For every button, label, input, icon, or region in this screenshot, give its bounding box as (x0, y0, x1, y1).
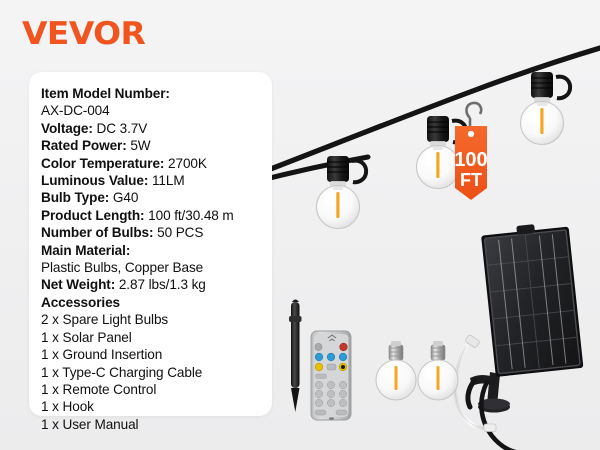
spec-label: Product Length: (41, 208, 144, 223)
spec-label: Bulb Type: (41, 190, 109, 205)
spec-label: Color Temperature: (41, 156, 164, 171)
spec-value: 50 PCS (153, 225, 203, 240)
spec-label: Luminous Value: (41, 173, 148, 188)
spec-row: Main Material: (41, 242, 272, 259)
globe-bulb (317, 186, 360, 229)
spec-value: DC 3.7V (93, 121, 147, 136)
spec-row: 1 x User Manual (41, 416, 272, 433)
specification-list: Item Model Number:AX-DC-004Voltage: DC 3… (29, 72, 272, 433)
spare-light-bulbs (376, 341, 458, 400)
spec-value: AX-DC-004 (41, 103, 110, 118)
spec-value: Plastic Bulbs, Copper Base (41, 260, 203, 275)
spec-value: 2.87 lbs/1.3 kg (115, 277, 206, 292)
spec-label: Rated Power: (41, 138, 127, 153)
product-infographic: 100 FT (0, 0, 600, 450)
brand-logo: VEVOR (22, 16, 145, 52)
spec-row: AX-DC-004 (41, 102, 272, 119)
tag-line1: 100 (454, 149, 487, 171)
spec-row: Voltage: DC 3.7V (41, 120, 272, 137)
spec-label: Main Material: (41, 243, 130, 258)
spec-row: Net Weight: 2.87 lbs/1.3 kg (41, 276, 272, 293)
bulb-socket (531, 72, 570, 104)
spec-value: 11LM (148, 173, 184, 188)
spec-label: Number of Bulbs: (41, 225, 153, 240)
spec-value: 2700K (164, 156, 207, 171)
spec-value: 2 x Spare Light Bulbs (41, 312, 168, 327)
bulb-socket (327, 156, 366, 188)
spec-label: Voltage: (41, 121, 93, 136)
spec-row: Number of Bulbs: 50 PCS (41, 224, 272, 241)
spec-row: 1 x Type-C Charging Cable (41, 364, 272, 381)
solar-panel (468, 221, 584, 450)
spec-row: 1 x Remote Control (41, 381, 272, 398)
spec-label: Accessories (41, 295, 120, 310)
spec-value: 1 x Type-C Charging Cable (41, 365, 202, 380)
spec-row: Rated Power: 5W (41, 137, 272, 154)
remote-control (311, 331, 351, 420)
spec-value: 1 x Ground Insertion (41, 347, 162, 362)
spec-row: Item Model Number: (41, 85, 272, 102)
globe-bulb (521, 102, 564, 145)
spec-value: 1 x Solar Panel (41, 330, 132, 345)
spec-value: 1 x User Manual (41, 417, 138, 432)
ground-insertion-stake (289, 300, 302, 413)
spec-row: Color Temperature: 2700K (41, 155, 272, 172)
spec-value: 100 ft/30.48 m (144, 208, 233, 223)
spec-value: 1 x Remote Control (41, 382, 156, 397)
spec-row: Product Length: 100 ft/30.48 m (41, 207, 272, 224)
spec-row: Plastic Bulbs, Copper Base (41, 259, 272, 276)
globe-bulb (417, 146, 460, 189)
specification-card: Item Model Number:AX-DC-004Voltage: DC 3… (29, 72, 272, 416)
spec-row: Accessories (41, 294, 272, 311)
spec-row: 1 x Ground Insertion (41, 346, 272, 363)
spec-label: Item Model Number: (41, 86, 170, 101)
spec-row: Luminous Value: 11LM (41, 172, 272, 189)
spec-row: Bulb Type: G40 (41, 189, 272, 206)
spec-label: Net Weight: (41, 277, 115, 292)
length-tag: 100 FT (454, 103, 487, 200)
string-light-strand (231, 48, 600, 229)
spec-value: 1 x Hook (41, 399, 94, 414)
spec-value: G40 (109, 190, 138, 205)
spec-row: 1 x Solar Panel (41, 329, 272, 346)
spec-row: 1 x Hook (41, 398, 272, 415)
tag-line2: FT (460, 170, 482, 190)
spec-value: 5W (127, 138, 151, 153)
spec-row: 2 x Spare Light Bulbs (41, 311, 272, 328)
